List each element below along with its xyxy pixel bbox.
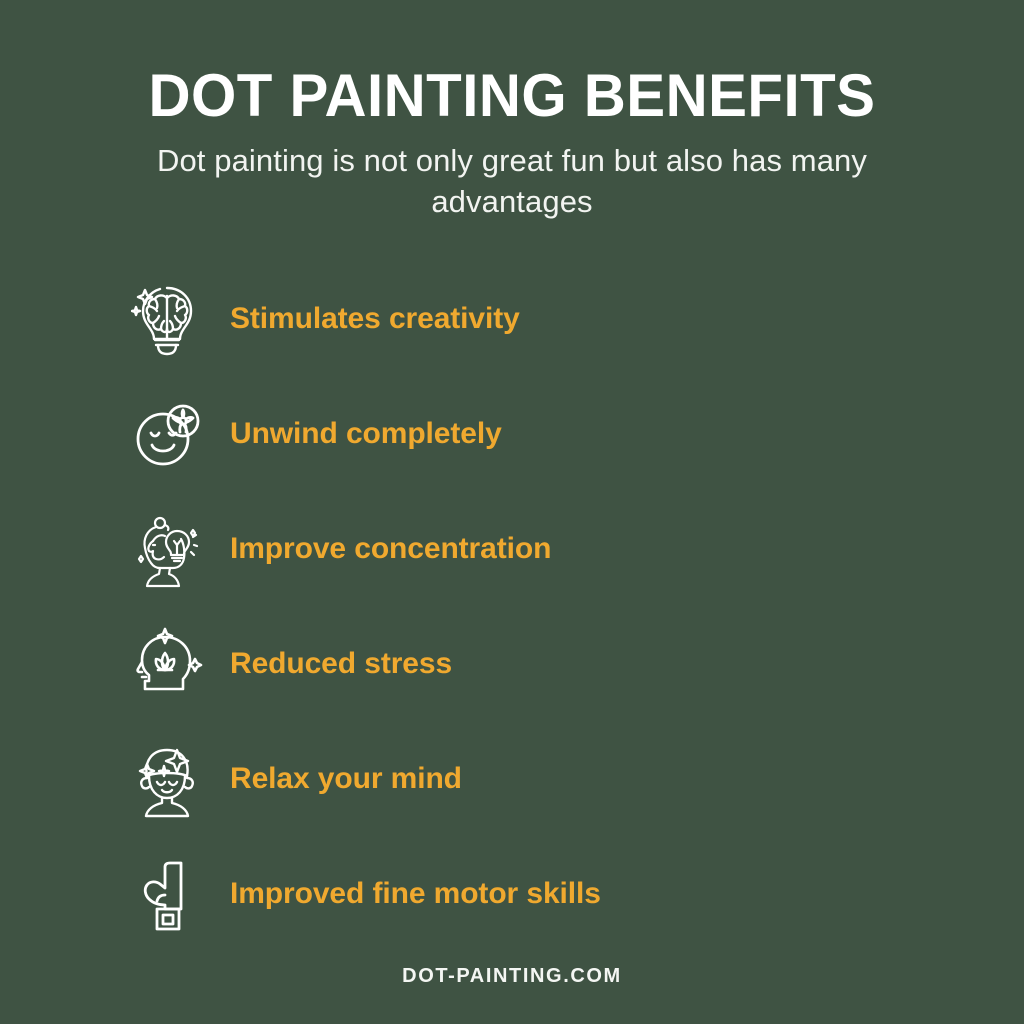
head-profile-lightbulb-icon <box>128 507 206 591</box>
infographic-poster: DOT PAINTING BENEFITS Dot painting is no… <box>0 0 1024 1024</box>
benefit-label: Stimulates creativity <box>230 302 520 336</box>
list-item: Relax your mind <box>128 732 908 826</box>
benefits-list: Stimulates creativity <box>128 272 908 962</box>
list-item: Stimulates creativity <box>128 272 908 366</box>
benefit-label: Relax your mind <box>230 762 462 796</box>
poster-footer: DOT-PAINTING.COM <box>0 965 1024 988</box>
list-item: Reduced stress <box>128 617 908 711</box>
smiley-face-flower-icon <box>128 392 206 476</box>
benefit-label: Improved fine motor skills <box>230 877 601 911</box>
list-item: Unwind completely <box>128 387 908 481</box>
hand-pinching-object-icon <box>128 852 206 936</box>
benefit-label: Improve concentration <box>230 532 551 566</box>
list-item: Improved fine motor skills <box>128 847 908 941</box>
relaxed-face-stars-icon <box>128 737 206 821</box>
page-subtitle: Dot painting is not only great fun but a… <box>142 140 882 222</box>
website-label: DOT-PAINTING.COM <box>402 965 622 987</box>
benefit-label: Unwind completely <box>230 417 502 451</box>
lightbulb-brain-sparkle-icon <box>128 277 206 361</box>
head-lotus-sparkle-icon <box>128 622 206 706</box>
poster-header: DOT PAINTING BENEFITS Dot painting is no… <box>0 64 1024 222</box>
benefit-label: Reduced stress <box>230 647 452 681</box>
list-item: Improve concentration <box>128 502 908 596</box>
page-title: DOT PAINTING BENEFITS <box>15 64 1008 128</box>
